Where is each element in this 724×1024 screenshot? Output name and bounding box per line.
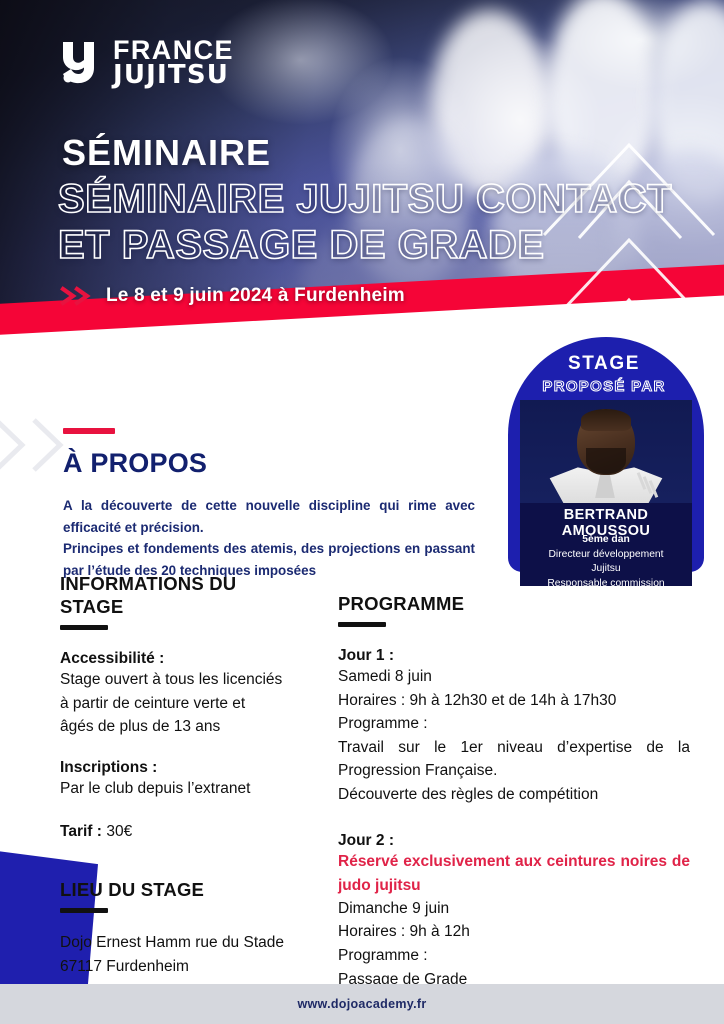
footer-bar: www.dojoacademy.fr xyxy=(0,984,724,1024)
accessibility-line-2: à partir de ceinture verte et xyxy=(60,692,350,716)
info-heading: INFORMATIONS DU STAGE xyxy=(60,572,350,618)
day2-programme-label: Programme : xyxy=(338,944,690,968)
hero-title: SÉMINAIRE JUJITSU CONTACT ET PASSAGE DE … xyxy=(58,176,718,268)
venue-block: LIEU DU STAGE Dojo Ernest Hamm rue du St… xyxy=(60,878,350,978)
about-paragraph-1: A la découverte de cette nouvelle discip… xyxy=(63,495,475,538)
hero-date-text: Le 8 et 9 juin 2024 à Furdenheim xyxy=(106,285,405,307)
hero-date-row: Le 8 et 9 juin 2024 à Furdenheim xyxy=(60,285,405,307)
accessibility-block: Accessibilité : Stage ouvert à tous les … xyxy=(60,650,350,739)
about-body: A la découverte de cette nouvelle discip… xyxy=(63,495,475,582)
tarif-block: Tarif : 30€ xyxy=(60,820,350,844)
coach-card: STAGE PROPOSÉ PAR BERTRAND AMOUSSOU 5ème… xyxy=(498,337,710,589)
day1-programme-label: Programme : xyxy=(338,712,690,736)
logo-text-jujitsu: JUJITSU xyxy=(113,63,234,87)
day2-block: Jour 2 : Réservé exclusivement aux ceint… xyxy=(338,832,690,991)
coach-rank: 5ème dan xyxy=(524,533,688,548)
footer-website[interactable]: www.dojoacademy.fr xyxy=(297,997,426,1011)
coach-role-line-3: Responsable commission xyxy=(524,577,688,586)
tarif-value: 30€ xyxy=(106,823,132,840)
poster-root: FRANCE JUJITSU SÉMINAIRE SÉMINAIRE JUJIT… xyxy=(0,0,724,1024)
venue-heading: LIEU DU STAGE xyxy=(60,878,350,901)
day1-block: Jour 1 : Samedi 8 juin Horaires : 9h à 1… xyxy=(338,647,690,806)
day2-label: Jour 2 : xyxy=(338,832,690,850)
day1-hours: Horaires : 9h à 12h30 et de 14h à 17h30 xyxy=(338,689,690,713)
about-section: À PROPOS A la découverte de cette nouvel… xyxy=(63,428,483,582)
day2-date: Dimanche 9 juin xyxy=(338,897,690,921)
coach-role-line-1: Directeur développement xyxy=(524,548,688,563)
venue-address-line-2: 67117 Furdenheim xyxy=(60,955,350,979)
hero-title-line-2: ET PASSAGE DE GRADE xyxy=(58,222,718,268)
accessibility-line-3: âgés de plus de 13 ans xyxy=(60,715,350,739)
venue-rule xyxy=(60,908,108,913)
inscriptions-label: Inscriptions : xyxy=(60,759,350,777)
coach-portrait xyxy=(520,400,692,503)
programme-rule xyxy=(338,622,386,627)
hero-kicker: SÉMINAIRE xyxy=(62,132,271,174)
info-heading-line-2: STAGE xyxy=(60,595,350,618)
day1-label: Jour 1 : xyxy=(338,647,690,665)
chevron-decor-left xyxy=(0,412,70,478)
coach-credentials: 5ème dan Directeur développement Jujitsu… xyxy=(524,533,688,586)
day2-restriction: Réservé exclusivement aux ceintures noir… xyxy=(338,850,690,897)
hero-title-line-1: SÉMINAIRE JUJITSU CONTACT xyxy=(58,176,718,222)
coach-stage-label: STAGE xyxy=(498,353,710,375)
france-jujitsu-mark-icon xyxy=(60,40,102,86)
inscriptions-block: Inscriptions : Par le club depuis l’extr… xyxy=(60,759,350,801)
day1-detail-1: Travail sur le 1er niveau d’expertise de… xyxy=(338,736,690,783)
coach-inner-card: BERTRAND AMOUSSOU 5ème dan Directeur dév… xyxy=(520,400,692,586)
venue-address-line-1: Dojo Ernest Hamm rue du Stade xyxy=(60,931,350,955)
double-chevron-right-icon xyxy=(60,286,94,306)
inscriptions-value: Par le club depuis l’extranet xyxy=(60,777,350,801)
day1-date: Samedi 8 juin xyxy=(338,665,690,689)
coach-role-line-2: Jujitsu xyxy=(524,562,688,577)
day2-hours: Horaires : 9h à 12h xyxy=(338,920,690,944)
programme-column: PROGRAMME Jour 1 : Samedi 8 juin Horaire… xyxy=(338,592,690,991)
coach-proposed-by-label: PROPOSÉ PAR xyxy=(498,378,710,395)
brand-logo: FRANCE JUJITSU xyxy=(60,38,234,88)
hero-section: FRANCE JUJITSU SÉMINAIRE SÉMINAIRE JUJIT… xyxy=(0,0,724,360)
day1-detail-2: Découverte des règles de compétition xyxy=(338,783,690,807)
about-rule xyxy=(63,428,115,434)
about-title: À PROPOS xyxy=(63,448,483,479)
accessibility-line-1: Stage ouvert à tous les licenciés xyxy=(60,668,350,692)
info-column: INFORMATIONS DU STAGE Accessibilité : St… xyxy=(60,572,350,978)
tarif-label: Tarif : xyxy=(60,823,102,840)
programme-heading: PROGRAMME xyxy=(338,592,690,615)
info-heading-line-1: INFORMATIONS DU xyxy=(60,572,350,595)
accessibility-label: Accessibilité : xyxy=(60,650,350,668)
info-rule xyxy=(60,625,108,630)
